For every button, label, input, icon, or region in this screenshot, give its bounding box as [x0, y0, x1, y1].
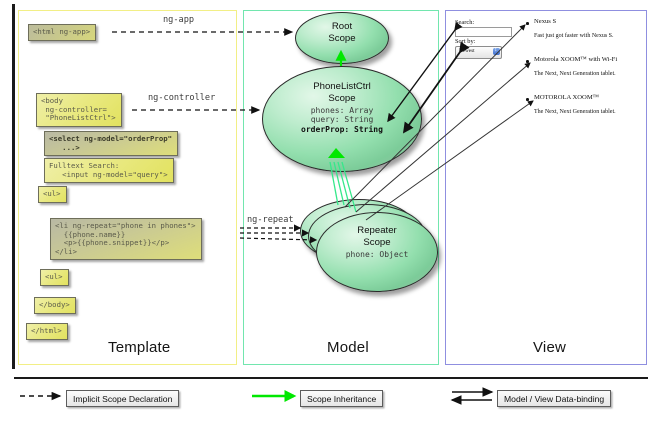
repeater-scope-title-2: Scope — [363, 237, 390, 248]
phone-snippet-2: The Next, Next Generation tablet. — [534, 109, 616, 115]
list-bullet-icon — [526, 98, 529, 101]
code-box-body-open: <body ng-controller= "PhoneListCtrl"> — [36, 93, 122, 127]
legend-icon-double-arrow — [452, 392, 492, 400]
list-bullet-icon — [526, 22, 529, 25]
ctrl-scope-title-2: Scope — [328, 93, 355, 104]
legend-divider — [14, 377, 648, 379]
root-scope-title-1: Root — [332, 21, 352, 32]
code-box-select-tag: <select ng-model="orderProp" ...> — [44, 131, 178, 156]
view-browser-pane: Search: Sort by: Newest Nexus S Fast jus… — [450, 14, 642, 332]
code-box-ul-close: <ul> — [40, 269, 69, 286]
legend-item-model-view-data-binding: Model / View Data-binding — [497, 390, 611, 407]
legend-item-implicit-scope-declaration: Implicit Scope Declaration — [66, 390, 179, 407]
sort-by-selected-value: Newest — [459, 48, 475, 54]
label-ng-repeat: ng-repeat — [247, 215, 294, 225]
phone-snippet-1: The Next, Next Generation tablet. — [534, 71, 616, 77]
code-box-ul-open: <ul> — [38, 186, 67, 203]
phone-snippet-0: Fast just got faster with Nexus S. — [534, 33, 614, 39]
search-input[interactable] — [455, 27, 512, 37]
repeater-scope-node: Repeater Scope phone: Object — [316, 212, 438, 292]
repeater-scope-title-1: Repeater — [357, 225, 396, 236]
root-scope-title-2: Scope — [328, 33, 355, 44]
column-label-model: Model — [327, 339, 369, 356]
ctrl-scope-prop-phones: phones: Array — [263, 106, 421, 115]
column-label-template: Template — [108, 339, 170, 356]
code-box-html-open: <html ng-app> — [28, 24, 96, 41]
ctrl-scope-title-1: PhoneListCtrl — [313, 81, 371, 92]
diagram-canvas: <html ng-app> <body ng-controller= "Phon… — [0, 0, 661, 425]
code-box-html-close: </html> — [26, 323, 68, 340]
root-scope-node: Root Scope — [295, 12, 389, 64]
label-ng-app: ng-app — [163, 15, 194, 25]
legend-item-scope-inheritance: Scope Inheritance — [300, 390, 383, 407]
code-box-li-ng-repeat: <li ng-repeat="phone in phones"> {{phone… — [50, 218, 202, 260]
phonelistctrl-scope-node: PhoneListCtrl Scope phones: Array query:… — [262, 66, 422, 172]
code-box-body-close: </body> — [34, 297, 76, 314]
chevron-updown-icon — [493, 48, 500, 55]
search-label: Search: — [455, 19, 474, 26]
repeater-scope-prop-phone: phone: Object — [317, 250, 437, 259]
phone-name-2: MOTOROLA XOOM™ — [534, 94, 599, 101]
label-ng-controller: ng-controller — [148, 93, 215, 103]
sort-by-select[interactable]: Newest — [455, 46, 502, 59]
list-bullet-icon — [526, 60, 529, 63]
sort-by-label: Sort by: — [455, 38, 475, 45]
column-label-view: View — [533, 339, 566, 356]
ctrl-scope-prop-query: query: String — [263, 115, 421, 124]
ctrl-scope-prop-orderprop: orderProp: String — [301, 125, 383, 134]
page-edge-rule — [12, 4, 15, 369]
phone-name-1: Motorola XOOM™ with Wi-Fi — [534, 56, 617, 63]
phone-name-0: Nexus S — [534, 18, 556, 25]
code-box-input-tag: Fulltext Search: <input ng-model="query"… — [44, 158, 174, 183]
